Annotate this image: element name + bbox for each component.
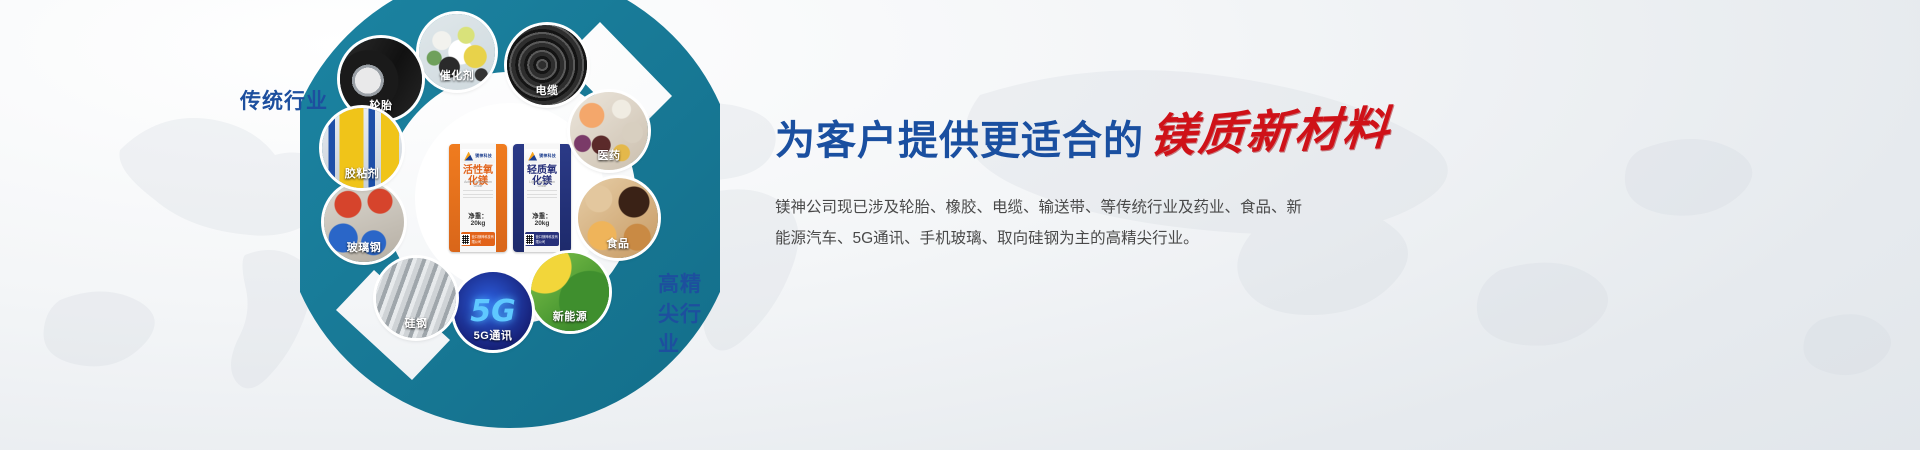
bag-subtitle-left: Active Magnesium Oxide xyxy=(461,180,495,188)
brand-mark-icon-2 xyxy=(528,152,537,161)
bag-spec-lines-2 xyxy=(527,190,557,201)
node-label-new-energy: 新能源 xyxy=(531,308,609,324)
node-label-adhesive: 胶粘剂 xyxy=(322,165,402,181)
paragraph-line-2: 能源汽车、5G通讯、手机玻璃、取向硅钢为主的高精尖行业。 xyxy=(775,223,1355,254)
node-medicine[interactable]: 医药 xyxy=(570,92,648,170)
brand-name-2: 镁神科技 xyxy=(539,153,556,159)
banner-headline: 为客户提供更适合的 镁质新材料 xyxy=(775,100,1535,166)
qr-code-icon xyxy=(461,234,470,245)
section-label-traditional: 传统行业 xyxy=(240,85,328,115)
headline-red-text: 镁质新材料 xyxy=(1148,92,1393,166)
section-label-highend: 高精尖行业 xyxy=(658,268,720,358)
node-frp[interactable]: 玻璃钢 xyxy=(324,182,404,262)
bag-net-weight-left: 净重：20kg xyxy=(461,210,495,227)
banner-copy: 为客户提供更适合的 镁质新材料 镁神公司现已涉及轮胎、橡胶、电缆、输送带、等传统… xyxy=(775,100,1535,254)
node-new-energy[interactable]: 新能源 xyxy=(531,253,609,331)
5g-badge-text: 5G xyxy=(470,294,516,329)
brand-logo-2: 镁神科技 xyxy=(525,149,559,163)
paragraph-line-1: 镁神公司现已涉及轮胎、橡胶、电缆、输送带、等传统行业及药业、食品、新 xyxy=(775,192,1355,223)
brand-name: 镁神科技 xyxy=(475,153,492,159)
node-5g[interactable]: 5G 5G通讯 xyxy=(454,272,532,350)
node-label-5g: 5G通讯 xyxy=(454,327,532,343)
bag-net-weight-right: 净重：20kg xyxy=(525,210,559,227)
brand-logo: 镁神科技 xyxy=(461,149,495,163)
bag-footer-right: 营口镁神科技有限公司 xyxy=(525,232,559,246)
product-bag-light-mgo: 镁神科技 轻质氧化镁 Light Magnesium Oxide 净重：20kg… xyxy=(513,144,571,252)
node-silicon-steel[interactable]: 硅钢 xyxy=(376,258,456,338)
qr-code-icon-2 xyxy=(525,234,534,245)
headline-blue-text: 为客户提供更适合的 xyxy=(775,108,1144,166)
banner-stage: 镁神科技 活性氧化镁 Active Magnesium Oxide 净重：20k… xyxy=(0,0,1920,450)
bag-footer-left: 营口镁神科技有限公司 xyxy=(461,232,495,246)
node-label-silicon-steel: 硅钢 xyxy=(376,315,456,331)
banner-paragraph: 镁神公司现已涉及轮胎、橡胶、电缆、输送带、等传统行业及药业、食品、新 能源汽车、… xyxy=(775,192,1355,254)
bag-footer-text-right: 营口镁神科技有限公司 xyxy=(536,234,559,244)
node-label-medicine: 医药 xyxy=(570,147,648,163)
brand-mark-icon xyxy=(464,152,473,161)
bag-spec-lines xyxy=(463,190,493,201)
bag-subtitle-right: Light Magnesium Oxide xyxy=(525,180,559,188)
industry-wheel-graphic: 镁神科技 活性氧化镁 Active Magnesium Oxide 净重：20k… xyxy=(300,0,720,450)
node-food[interactable]: 食品 xyxy=(578,178,658,258)
product-bag-active-mgo: 镁神科技 活性氧化镁 Active Magnesium Oxide 净重：20k… xyxy=(449,144,507,252)
bag-footer-text-left: 营口镁神科技有限公司 xyxy=(472,234,495,244)
node-label-catalyst: 催化剂 xyxy=(419,67,495,83)
node-adhesive[interactable]: 胶粘剂 xyxy=(322,108,402,188)
node-label-frp: 玻璃钢 xyxy=(324,239,404,255)
node-label-food: 食品 xyxy=(578,235,658,251)
node-catalyst[interactable]: 催化剂 xyxy=(419,14,495,90)
